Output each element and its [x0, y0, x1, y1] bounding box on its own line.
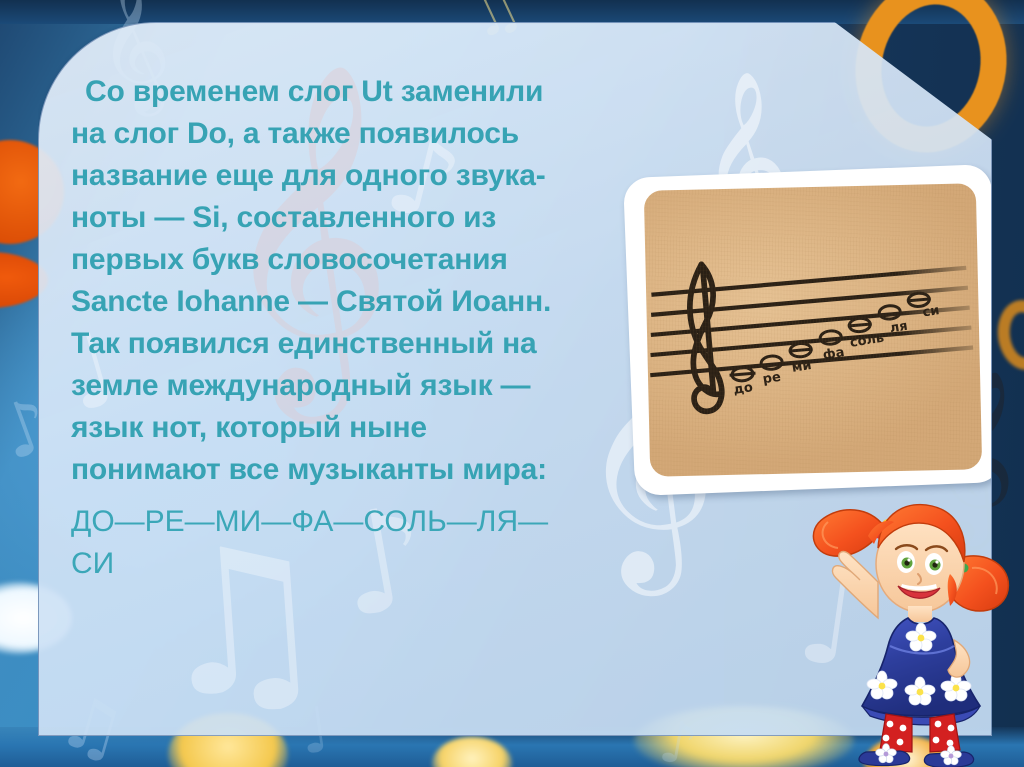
- left-hand: [833, 552, 878, 618]
- note-names-line: ДО—РЕ—МИ—ФА—СОЛЬ—ЛЯ—СИ: [71, 501, 571, 585]
- svg-text:соль: соль: [849, 331, 885, 351]
- svg-text:ля: ля: [889, 319, 909, 337]
- svg-text:до: до: [732, 380, 754, 398]
- music-staff-illustration: до ре ми фа соль ля си: [644, 183, 982, 476]
- cartoon-girl-illustration: [808, 470, 1024, 767]
- svg-text:си: си: [922, 303, 941, 320]
- slide-root: 𝄞 ♪ ♫ ♩ ♪ 𝄞 ♩ ♫ 𝄞 ♫ 𝄞 ♪ ♪ 𝄞 ♩ ♩ Со време…: [0, 0, 1024, 767]
- text-block: Со временем слог Ut заменили на слог Do,…: [71, 71, 571, 585]
- photo-frame: до ре ми фа соль ля си: [623, 164, 992, 496]
- body-paragraph: Со временем слог Ut заменили на слог Do,…: [71, 71, 571, 491]
- music-staff-photograph: до ре ми фа соль ля си: [644, 183, 982, 476]
- svg-text:ми: ми: [791, 358, 813, 376]
- svg-text:ре: ре: [762, 370, 782, 388]
